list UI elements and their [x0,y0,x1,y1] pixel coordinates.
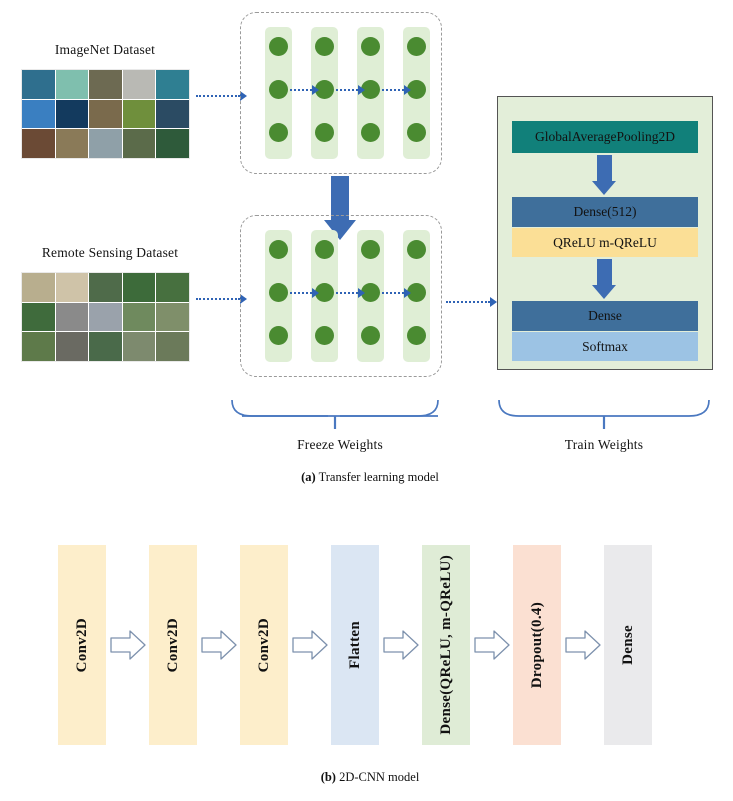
cnn-flow-arrow [383,629,419,661]
pretrained-network-container [240,12,442,174]
panel-b-caption-text: 2D-CNN model [339,770,419,784]
network2-inter-layer-arrow-head [404,288,411,298]
remote-sensing-dataset-label: Remote Sensing Dataset [5,245,215,261]
block-dense-512: Dense(512) [512,197,698,227]
panel-b-caption: (b) 2D-CNN model [270,770,470,785]
dataset-thumbnail [56,129,89,158]
network1-inter-layer-arrow-head [404,85,411,95]
dataset-thumbnail [89,70,122,99]
cnn-flow-arrow [292,629,328,661]
network1-node [315,123,334,142]
network2-node [269,326,288,345]
weight-transfer-arrow-shaft [331,176,349,220]
cnn-block-conv2d: Conv2D [149,545,197,745]
dataset-thumbnail [123,70,156,99]
network2-node [361,326,380,345]
dataset-thumbnail [123,273,156,302]
network2-inter-layer-arrow-head [358,288,365,298]
dataset-thumbnail [89,303,122,332]
cnn-block-label: Flatten [347,621,364,669]
network2-inter-layer-arrow [290,292,312,294]
cnn-block-flatten: Flatten [331,545,379,745]
freeze-weights-label: Freeze Weights [230,437,450,453]
head-arrow-2-shaft [597,259,612,285]
remote-sensing-thumbnail-grid [22,273,189,361]
dataset-thumbnail [56,100,89,129]
cnn-model-row: Conv2DConv2DConv2DFlattenDense(QReLU, m-… [0,533,733,763]
train-weights-label: Train Weights [497,437,711,453]
block-qrelu-activation: QReLU m-QReLU [512,228,698,257]
dataset-thumbnail [89,332,122,361]
figure-root: ImageNet Dataset [0,0,733,801]
dataset-thumbnail [22,70,55,99]
dataset-thumbnail [56,273,89,302]
cnn-block-label: Conv2D [165,618,182,672]
network1-inter-layer-arrow [290,89,312,91]
head-arrow-1-head [592,181,616,195]
network1-inter-layer-arrow-head [358,85,365,95]
dataset-thumbnail [89,273,122,302]
block-dense-output: Dense [512,301,698,331]
dotted-arrow-target-to-network [196,298,240,300]
dataset-thumbnail [123,303,156,332]
network2-inter-layer-arrow-head [312,288,319,298]
dataset-thumbnail [22,129,55,158]
network2-inter-layer-arrow [336,292,358,294]
cnn-flow-arrow [201,629,237,661]
network1-node [269,37,288,56]
dataset-thumbnail [123,100,156,129]
dotted-arrow-head-to-classifier [490,297,497,307]
network2-node [315,326,334,345]
cnn-block-dense-qrelu-m-qrelu: Dense(QReLU, m-QReLU) [422,545,470,745]
dataset-thumbnail [89,129,122,158]
target-network-container [240,215,442,377]
dataset-thumbnail [56,303,89,332]
dataset-thumbnail [156,303,189,332]
dotted-arrow-network-to-head [446,301,490,303]
cnn-block-label: Conv2D [74,618,91,672]
block-softmax: Softmax [512,332,698,361]
network1-node [269,123,288,142]
panel-a-caption-marker: (a) [301,470,316,484]
network1-inter-layer-arrow [382,89,404,91]
network1-node [269,80,288,99]
dataset-thumbnail [156,70,189,99]
freeze-weights-brace [230,398,450,432]
cnn-flow-arrow [565,629,601,661]
panel-b-caption-marker: (b) [321,770,336,784]
network2-inter-layer-arrow [382,292,404,294]
dataset-thumbnail [22,273,55,302]
cnn-flow-arrow [110,629,146,661]
dataset-thumbnail [56,332,89,361]
dataset-thumbnail [56,70,89,99]
network2-node [361,240,380,259]
network2-node [269,283,288,302]
dataset-thumbnail [123,129,156,158]
panel-a-caption-text: Transfer learning model [319,470,439,484]
network2-node [315,240,334,259]
head-arrow-1-shaft [597,155,612,181]
imagenet-dataset-label: ImageNet Dataset [10,42,200,58]
dataset-thumbnail [89,100,122,129]
network2-node [407,326,426,345]
cnn-block-dense: Dense [604,545,652,745]
dataset-thumbnail [156,273,189,302]
network1-node [407,37,426,56]
network1-inter-layer-arrow [336,89,358,91]
dotted-arrow-source-to-network [196,95,240,97]
cnn-block-label: Dropout(0.4) [529,602,546,688]
cnn-block-label: Dense(QReLU, m-QReLU) [438,555,455,735]
cnn-block-label: Conv2D [256,618,273,672]
cnn-block-conv2d: Conv2D [240,545,288,745]
network1-node [407,123,426,142]
network1-node [361,37,380,56]
cnn-flow-arrow [474,629,510,661]
panel-a-caption: (a) Transfer learning model [230,470,510,485]
block-global-average-pooling: GlobalAveragePooling2D [512,121,698,153]
cnn-block-conv2d: Conv2D [58,545,106,745]
dataset-thumbnail [123,332,156,361]
network2-node [269,240,288,259]
dataset-thumbnail [156,129,189,158]
network1-inter-layer-arrow-head [312,85,319,95]
imagenet-thumbnail-grid [22,70,189,158]
dataset-thumbnail [156,100,189,129]
dataset-thumbnail [22,303,55,332]
dataset-thumbnail [22,100,55,129]
head-arrow-2-head [592,285,616,299]
network2-node [407,240,426,259]
train-weights-brace [497,398,711,432]
cnn-block-dropout-0-4: Dropout(0.4) [513,545,561,745]
dataset-thumbnail [156,332,189,361]
classifier-head-panel: GlobalAveragePooling2D Dense(512) QReLU … [497,96,713,370]
dataset-thumbnail [22,332,55,361]
network1-node [361,123,380,142]
network1-node [315,37,334,56]
cnn-block-label: Dense [620,625,637,665]
